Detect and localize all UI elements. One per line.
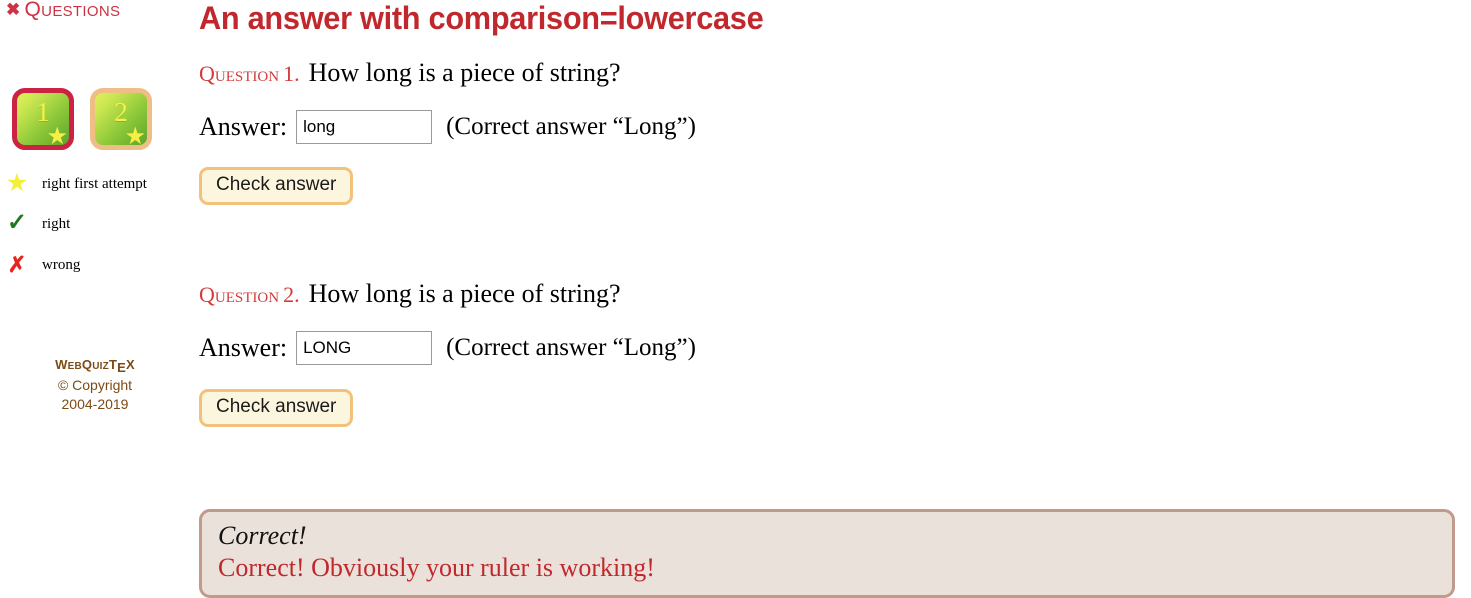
main-content: An answer with comparison=lowercase Ques… [199,0,1463,427]
feedback-message: Correct! Obviously your ruler is working… [218,551,1452,585]
question-nav-number: 1 [17,99,69,126]
question-heading: Question 1. How long is a piece of strin… [199,58,1463,92]
logo-eb: EB [68,361,82,372]
correct-answer-note: (Correct answer “Long”) [446,334,696,362]
question-nav: 1 ★ 2 ★ [12,88,152,150]
question-tag: Question [199,282,279,307]
logo-q: Q [82,357,92,372]
answer-input[interactable] [296,331,432,365]
answer-label: Answer: [199,333,287,363]
sidebar: ✖Questions 1 ★ 2 ★ ★ right first attempt… [0,0,190,593]
logo-x: X [126,357,135,372]
answer-label: Answer: [199,112,287,142]
check-answer-button[interactable]: Check answer [199,389,353,427]
sidebar-header[interactable]: ✖Questions [6,0,120,22]
question-heading: Question 2. How long is a piece of strin… [199,279,1463,313]
star-icon: ★ [124,125,146,149]
feedback-box: Correct! Correct! Obviously your ruler i… [199,509,1455,598]
copyright-years: 2004-2019 [0,395,190,414]
legend-item-right: ✓ right [0,212,190,238]
copyright-line: © Copyright [0,376,190,395]
check-answer-button[interactable]: Check answer [199,167,353,205]
question-block-2: Question 2. How long is a piece of strin… [199,279,1463,427]
feedback-title: Correct! [218,520,1452,551]
logo-e: E [117,358,126,377]
sidebar-header-label: Questions [25,0,121,21]
question-tag: Question [199,61,279,86]
logo-w: W [55,357,67,372]
legend-item-wrong: ✗ wrong [0,253,190,279]
question-nav-button-1[interactable]: 1 ★ [12,88,74,150]
webquiztex-logo: WEBQUIZTEX [0,355,190,376]
check-icon: ✓ [0,212,34,235]
close-icon[interactable]: ✖ [6,0,21,19]
question-number: 1. [283,61,300,86]
answer-input[interactable] [296,110,432,144]
answer-row: Answer: (Correct answer “Long”) [199,110,1463,144]
question-nav-number: 2 [95,99,147,126]
logo-uiz: UIZ [92,361,109,372]
logo-t: T [109,357,117,372]
legend-label: wrong [34,253,80,279]
copyright-block: WEBQUIZTEX © Copyright 2004-2019 [0,355,190,414]
question-number: 2. [283,282,300,307]
question-text: How long is a piece of string? [309,58,621,87]
correct-answer-note: (Correct answer “Long”) [446,113,696,141]
legend-label: right [34,212,70,238]
question-nav-button-2[interactable]: 2 ★ [90,88,152,150]
question-block-1: Question 1. How long is a piece of strin… [199,58,1463,205]
star-icon: ★ [0,172,34,195]
star-icon: ★ [46,125,68,149]
page-title: An answer with comparison=lowercase [199,0,1412,36]
cross-icon: ✗ [0,253,34,276]
legend-label: right first attempt [34,172,147,198]
answer-row: Answer: (Correct answer “Long”) [199,331,1463,365]
question-text: How long is a piece of string? [309,279,621,308]
legend-item-right-first-attempt: ★ right first attempt [0,172,190,198]
legend: ★ right first attempt ✓ right ✗ wrong [0,172,190,293]
